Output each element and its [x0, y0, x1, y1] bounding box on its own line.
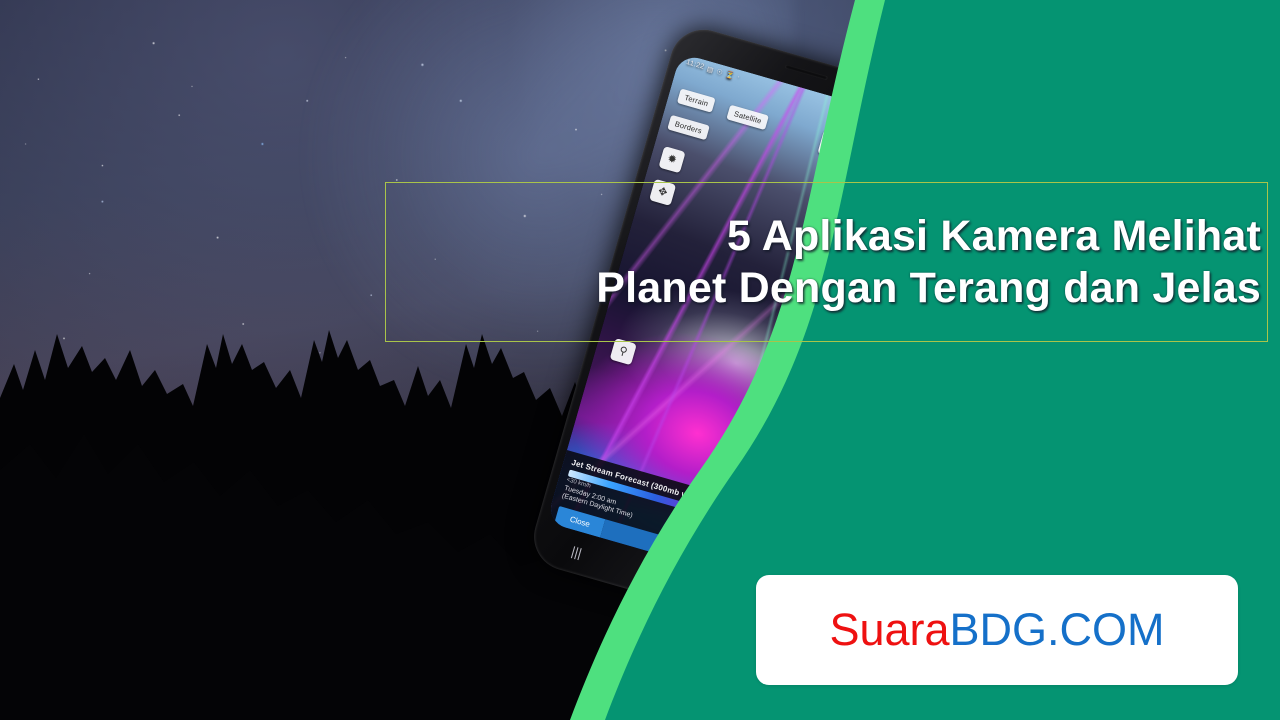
banner-canvas: 11:22 ▤ ☉ ⏳ · ◈ 🔇 ▾ ▵ 78% ■ Terrain: [0, 0, 1280, 720]
sd-card-icon: ☉: [716, 67, 725, 77]
title-frame: 5 Aplikasi Kamera Melihat Planet Dengan …: [385, 182, 1268, 342]
logo-text-bdgcom: BDG.COM: [950, 604, 1165, 655]
alarm-icon: ⏳: [725, 70, 736, 80]
recents-button[interactable]: |||: [570, 543, 584, 560]
chip-terrain[interactable]: Terrain: [677, 88, 716, 112]
search-icon[interactable]: ⚲: [610, 338, 637, 365]
battery-icon: ■: [908, 123, 914, 131]
site-logo-card[interactable]: SuaraBDG.COM: [756, 575, 1238, 685]
bluetooth-icon: ◈: [858, 108, 866, 117]
status-time: 11:22: [685, 59, 705, 71]
logo-text-suara: Suara: [829, 604, 949, 655]
home-button[interactable]: ○: [659, 569, 671, 586]
sim-icon: ▤: [706, 64, 715, 74]
dot-icon: ·: [736, 74, 740, 81]
title-line-2: Planet Dengan Terang dan Jelas: [596, 262, 1261, 314]
brightness-icon[interactable]: ✹: [658, 146, 685, 173]
mute-icon: 🔇: [866, 110, 877, 120]
chip-borders[interactable]: Borders: [667, 115, 709, 140]
site-logo-text: SuaraBDG.COM: [829, 604, 1164, 656]
chip-satellite[interactable]: Satellite: [726, 105, 769, 131]
battery-percent: 78%: [891, 118, 907, 129]
title-line-1: 5 Aplikasi Kamera Melihat: [727, 210, 1261, 262]
signal-icon: ▵: [884, 116, 890, 125]
wifi-icon: ▾: [877, 114, 883, 123]
